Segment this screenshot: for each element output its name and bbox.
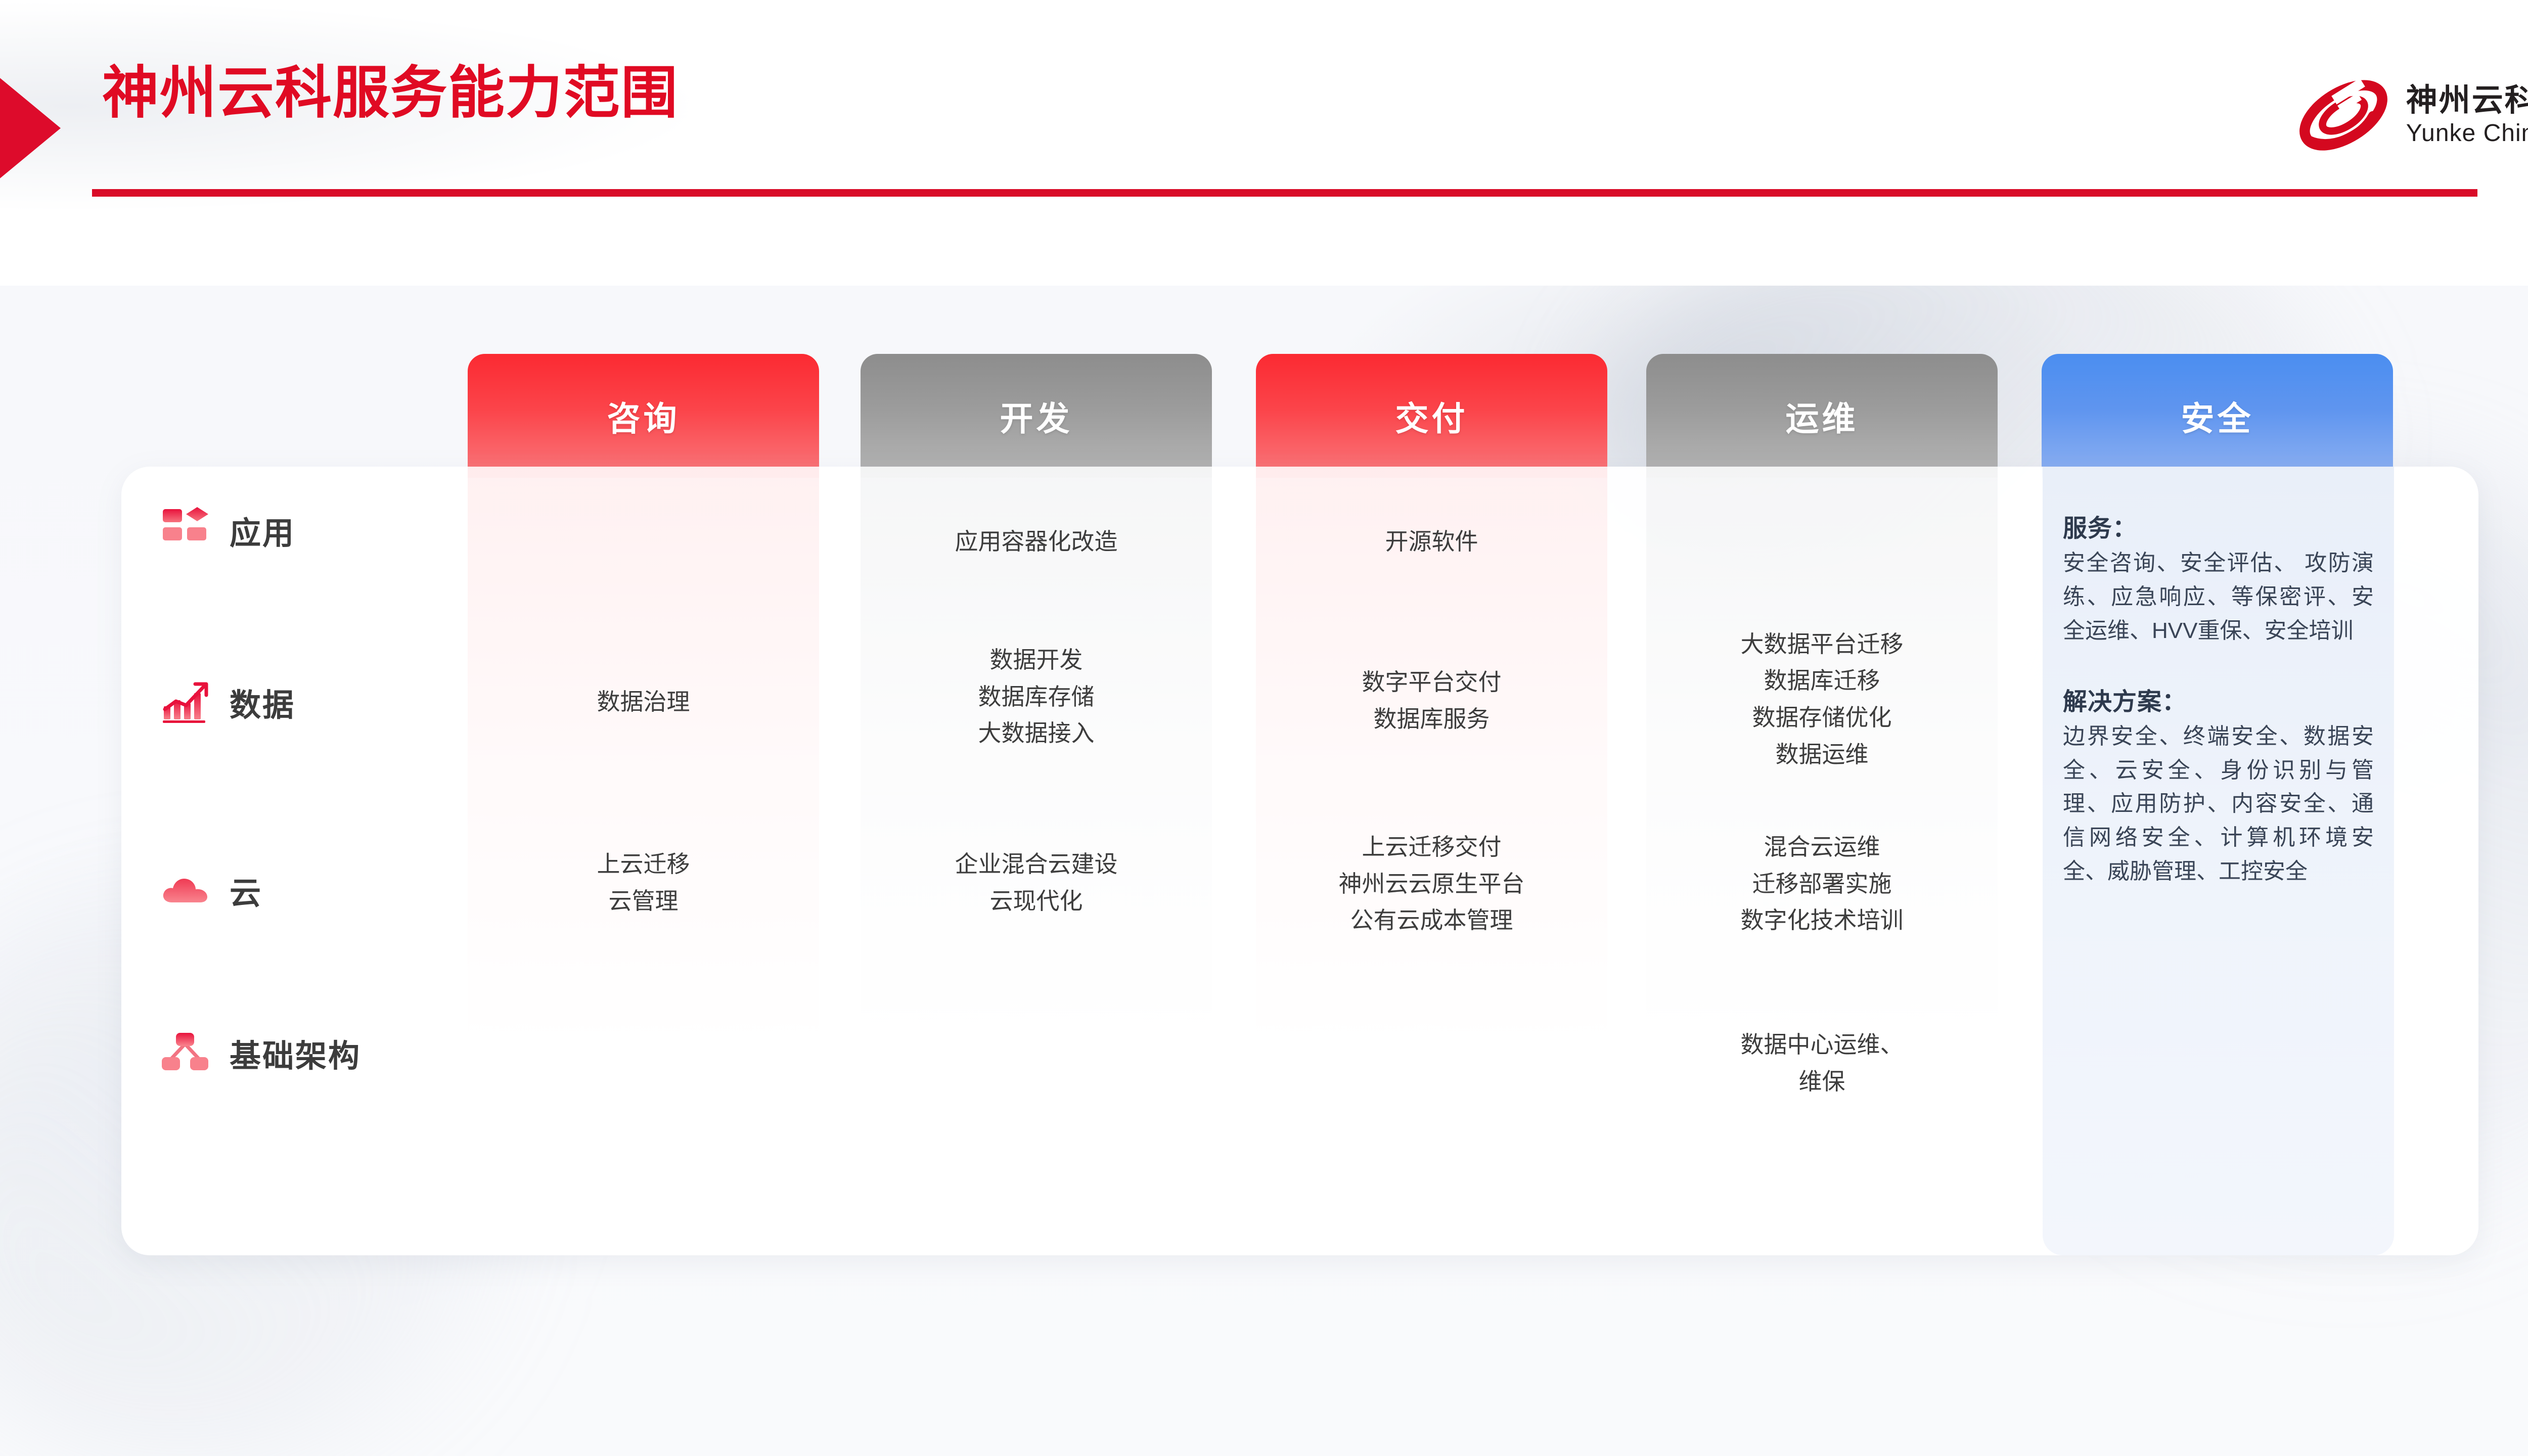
cell-data-consulting[interactable]: 数据治理 (468, 639, 819, 765)
cell-data-operations[interactable]: 大数据平台迁移 数据库迁移 数据存储优化 数据运维 (1646, 628, 1998, 770)
cell-cloud-consulting[interactable]: 上云迁移 云管理 (468, 828, 819, 937)
app-blocks-icon (161, 506, 209, 555)
cell-line: 数据运维 (1776, 736, 1869, 773)
column-header-delivery[interactable]: 交付 (1256, 354, 1607, 478)
title-underline-rule (92, 189, 2477, 197)
security-column-panel[interactable]: 服务： 安全咨询、安全评估、 攻防演练、应急响应、等保密评、安全运维、HVV重保… (2043, 467, 2394, 1255)
cell-cloud-development[interactable]: 企业混合云建设 云现代化 (861, 828, 1212, 937)
security-service-body: 安全咨询、安全评估、 攻防演练、应急响应、等保密评、安全运维、HVV重保、安全培… (2063, 547, 2374, 648)
cell-line: 数据库迁移 (1764, 662, 1880, 699)
column-header-security[interactable]: 安全 (2042, 354, 2393, 478)
cell-line: 维保 (1799, 1063, 1845, 1100)
cell-line: 云管理 (609, 883, 679, 920)
cell-line: 大数据平台迁移 (1741, 626, 1904, 663)
row-label-app: 应用 (161, 506, 295, 555)
cell-line: 数据库存储 (978, 678, 1095, 715)
cell-line: 数据开发 (990, 642, 1083, 678)
logo-name-en: Yunke China (2406, 121, 2528, 146)
red-arrow-marker-icon (0, 74, 61, 183)
row-label-text: 数据 (230, 679, 295, 725)
cell-line: 数字平台交付 (1362, 664, 1502, 701)
cell-line: 数据库服务 (1374, 701, 1490, 738)
cell-line: 数据治理 (597, 684, 690, 720)
row-label-text: 基础架构 (230, 1030, 361, 1076)
page-title: 神州云科服务能力范围 (102, 65, 679, 121)
logo-name-cn: 神州云科 (2406, 85, 2528, 116)
row-label-text: 云 (230, 868, 262, 913)
cloud-icon (161, 866, 209, 915)
cell-line: 应用容器化改造 (955, 523, 1118, 560)
cell-line: 神州云云原生平台 (1339, 866, 1525, 902)
row-label-text: 应用 (230, 508, 295, 553)
cell-line: 上云迁移 (597, 846, 690, 883)
cell-line: 大数据接入 (978, 715, 1095, 752)
column-header-consulting[interactable]: 咨询 (468, 354, 819, 478)
bar-chart-icon (161, 678, 209, 726)
security-service-group: 服务： 安全咨询、安全评估、 攻防演练、应急响应、等保密评、安全运维、HVV重保… (2063, 508, 2374, 648)
cell-line: 公有云成本管理 (1350, 902, 1513, 939)
cell-line: 数据中心运维、 (1741, 1026, 1904, 1063)
cell-line: 数据存储优化 (1752, 699, 1892, 736)
cell-line: 迁移部署实施 (1752, 866, 1892, 902)
swirl-logo-icon (2294, 73, 2393, 157)
row-label-data: 数据 (161, 678, 295, 726)
cell-line: 开源软件 (1385, 523, 1478, 560)
cell-infrastructure-operations[interactable]: 数据中心运维、 维保 (1646, 1018, 1998, 1109)
cell-app-delivery[interactable]: 开源软件 (1256, 496, 1607, 587)
cell-line: 企业混合云建设 (955, 846, 1118, 883)
cell-data-development[interactable]: 数据开发 数据库存储 大数据接入 (861, 633, 1212, 760)
row-label-infrastructure: 基础架构 (161, 1029, 361, 1077)
brand-logo: 神州云科 Yunke China (2294, 73, 2528, 157)
cell-cloud-operations[interactable]: 混合云运维 迁移部署实施 数字化技术培训 (1646, 821, 1998, 947)
cell-app-development[interactable]: 应用容器化改造 (861, 496, 1212, 587)
cell-line: 混合云运维 (1764, 829, 1880, 866)
cell-line: 云现代化 (990, 883, 1083, 920)
capability-matrix-card: 应用 数据 云 (121, 467, 2478, 1255)
security-solution-body: 边界安全、终端安全、数据安全、云安全、身份识别与管理、应用防护、内容安全、通信网… (2063, 720, 2374, 889)
row-label-cloud: 云 (161, 866, 262, 915)
cell-data-delivery[interactable]: 数字平台交付 数据库服务 (1256, 638, 1607, 764)
cell-cloud-delivery[interactable]: 上云迁移交付 神州云云原生平台 公有云成本管理 (1256, 821, 1607, 947)
security-solution-group: 解决方案： 边界安全、终端安全、数据安全、云安全、身份识别与管理、应用防护、内容… (2063, 681, 2374, 889)
cell-line: 上云迁移交付 (1362, 829, 1502, 866)
security-service-heading: 服务： (2063, 508, 2374, 543)
cell-line: 数字化技术培训 (1741, 902, 1904, 939)
content-stage: 咨询 开发 交付 运维 安全 应用 (0, 286, 2528, 1456)
security-solution-heading: 解决方案： (2063, 681, 2374, 717)
page-header: 神州云科服务能力范围 神州云科 Yunke China (0, 0, 2528, 286)
column-header-operations[interactable]: 运维 (1646, 354, 1998, 478)
column-header-development[interactable]: 开发 (861, 354, 1212, 478)
network-nodes-icon (161, 1029, 209, 1077)
